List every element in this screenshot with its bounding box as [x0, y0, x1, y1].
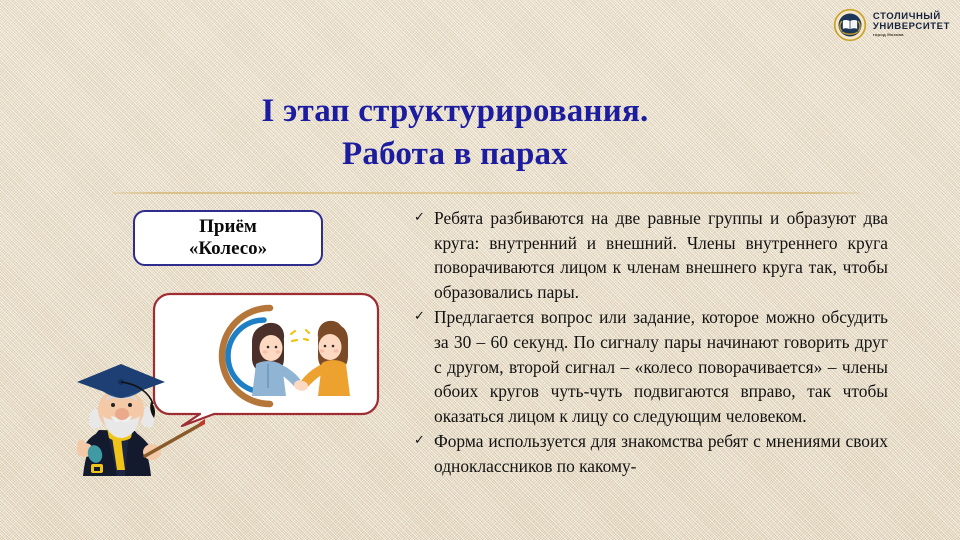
list-item-text: Предлагается вопрос или задание, которое…: [434, 305, 888, 428]
cartoon-professor-with-pointer-icon: [55, 352, 205, 492]
checkmark-icon: ✓: [414, 206, 434, 231]
page-title: I этап структурирования. Работа в парах: [60, 90, 850, 176]
list-item: ✓ Ребята разбиваются на две равные групп…: [414, 206, 888, 304]
list-item-text: Ребята разбиваются на две равные группы …: [434, 206, 888, 304]
checkmark-icon: ✓: [414, 305, 434, 330]
university-crest-book-laurel-icon: [833, 8, 867, 42]
title-divider: [112, 192, 860, 194]
list-item: ✓ Форма используется для знакомства ребя…: [414, 429, 888, 478]
method-box-line-2: «Колесо»: [189, 238, 267, 260]
page-title-line-1: I этап структурирования.: [60, 90, 850, 133]
method-box-line-1: Приём: [199, 216, 257, 238]
university-logo-text: СТОЛИЧНЫЙ УНИВЕРСИТЕТ город Москва: [873, 12, 950, 37]
method-name-box: Приём «Колесо»: [133, 210, 323, 266]
checkmark-icon: ✓: [414, 429, 434, 454]
logo-line-2: УНИВЕРСИТЕТ: [873, 22, 950, 32]
list-item: ✓ Предлагается вопрос или задание, котор…: [414, 305, 888, 428]
university-logo: СТОЛИЧНЫЙ УНИВЕРСИТЕТ город Москва: [833, 8, 950, 42]
list-item-text: Форма используется для знакомства ребят …: [434, 429, 888, 478]
content-bullet-list: ✓ Ребята разбиваются на две равные групп…: [414, 206, 888, 540]
logo-subtitle: город Москва: [873, 33, 950, 37]
slide-canvas: СТОЛИЧНЫЙ УНИВЕРСИТЕТ город Москва I эта…: [0, 0, 960, 540]
page-title-line-2: Работа в парах: [60, 133, 850, 176]
